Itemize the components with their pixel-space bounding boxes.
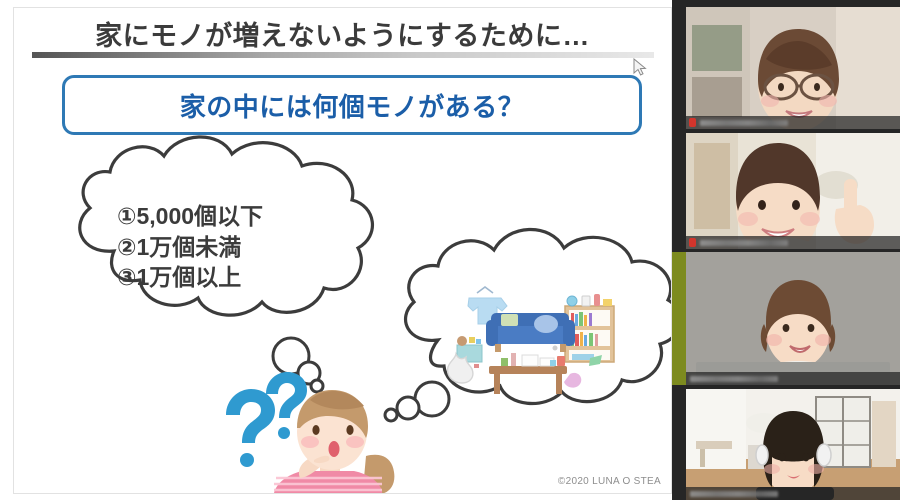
video-feed — [686, 7, 900, 129]
video-feed — [686, 133, 900, 249]
participant-name-label — [700, 240, 788, 246]
video-feed — [686, 389, 900, 500]
participant-name-bar — [686, 372, 900, 385]
shared-slide: 家にモノが増えないようにするために… 家の中には何個モノがある？ — [13, 7, 672, 494]
answer-option-3: ③1万個以上 — [117, 262, 347, 293]
video-feed — [686, 252, 900, 385]
video-tile-participant-3[interactable] — [686, 252, 900, 385]
muted-mic-icon — [689, 238, 696, 247]
answer-options-list: ①5,000個以下 ②1万個未満 ③1万個以上 — [117, 201, 347, 293]
answer-option-1: ①5,000個以下 — [117, 201, 347, 232]
video-tile-participant-2[interactable] — [686, 133, 900, 249]
muted-mic-icon — [689, 118, 696, 127]
participant-name-bar — [686, 487, 900, 500]
question-marks-icon — [226, 372, 307, 467]
participant-name-label — [690, 376, 778, 382]
screen-share-meeting-view: 家にモノが増えないようにするために… 家の中には何個モノがある？ — [0, 0, 900, 500]
video-tile-participant-1[interactable] — [686, 7, 900, 129]
participant-name-label — [690, 491, 778, 497]
video-tile-participant-4[interactable] — [686, 389, 900, 500]
participant-name-bar — [686, 236, 900, 249]
answer-option-2: ②1万個未満 — [117, 232, 347, 263]
right-cloud-tail — [385, 382, 449, 421]
active-speaker-side-strip — [672, 252, 686, 385]
mouse-pointer-icon — [633, 58, 647, 76]
participant-video-panel — [672, 0, 900, 500]
participant-name-label — [700, 120, 788, 126]
copyright-notice: ©2020 LUNA O STEA — [558, 476, 661, 487]
participant-name-bar — [686, 116, 900, 129]
